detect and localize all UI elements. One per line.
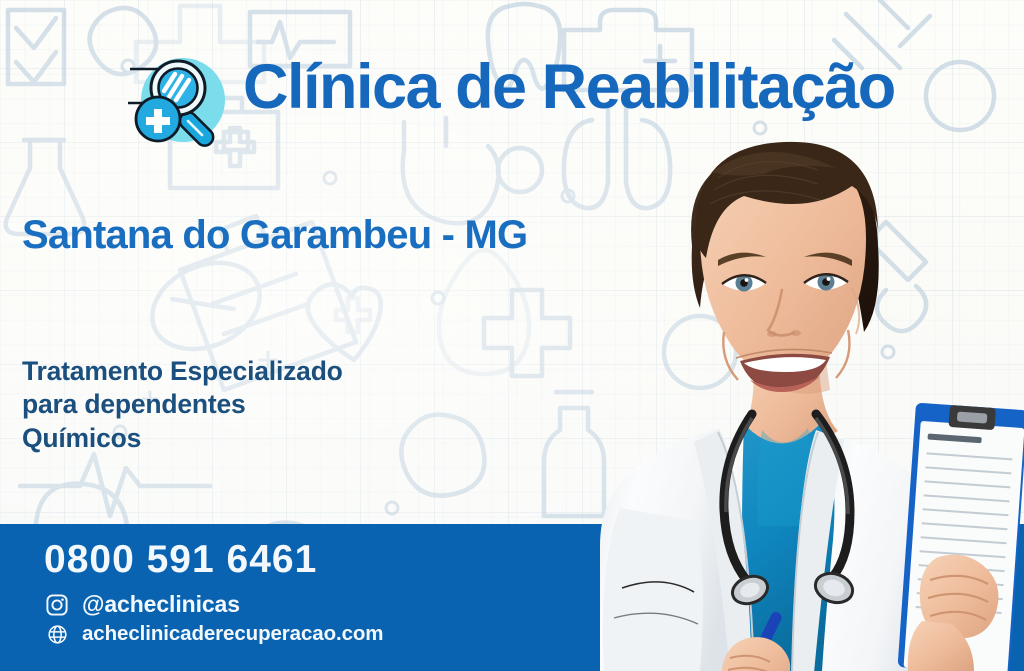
promo-banner: Clínica de Reabilitação Santana do Garam… xyxy=(0,0,1024,671)
magnifier-plus-logo-icon xyxy=(126,47,234,153)
doctor-photo xyxy=(600,118,1024,671)
instagram-icon xyxy=(44,592,70,618)
website-contact[interactable]: acheclinicaderecuperacao.com xyxy=(44,622,383,646)
description-line-3: Químicos xyxy=(22,422,343,455)
globe-icon xyxy=(44,623,70,645)
page-title: Clínica de Reabilitação xyxy=(243,54,895,120)
description-line-2: para dependentes xyxy=(22,388,343,421)
service-description: Tratamento Especializado para dependente… xyxy=(22,355,343,455)
instagram-contact[interactable]: @acheclinicas xyxy=(44,591,240,618)
description-line-1: Tratamento Especializado xyxy=(22,355,343,388)
website-url: acheclinicaderecuperacao.com xyxy=(82,622,383,646)
instagram-handle: @acheclinicas xyxy=(82,591,240,618)
phone-number[interactable]: 0800 591 6461 xyxy=(44,538,317,582)
location-heading: Santana do Garambeu - MG xyxy=(22,213,527,258)
